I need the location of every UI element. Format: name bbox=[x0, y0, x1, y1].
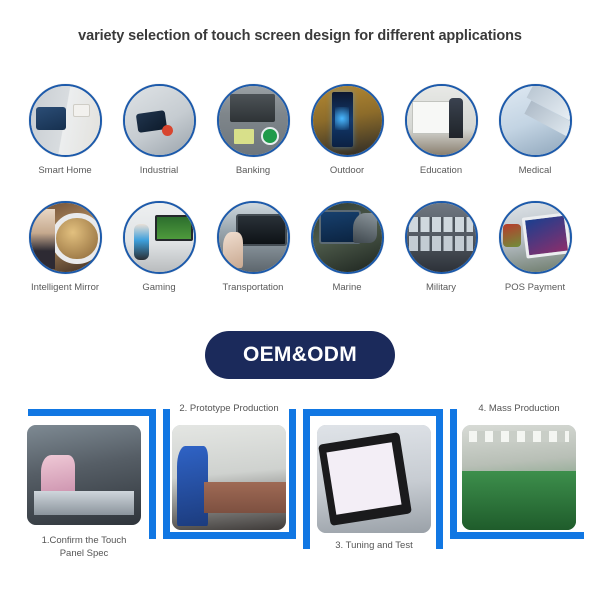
mass-production-photo-icon bbox=[462, 425, 576, 530]
process-step-4-label: 4. Mass Production bbox=[449, 403, 589, 416]
application-label: Outdoor bbox=[330, 166, 364, 176]
application-label: Gaming bbox=[142, 283, 175, 293]
transportation-photo-icon bbox=[219, 203, 288, 272]
application-label: Military bbox=[426, 283, 456, 293]
application-label: Medical bbox=[519, 166, 552, 176]
medical-photo-icon bbox=[501, 86, 570, 155]
application-item-intelligent-mirror[interactable]: Intelligent Mirror bbox=[18, 201, 112, 293]
bracket-2-right-bar bbox=[289, 409, 296, 539]
medical-image[interactable] bbox=[499, 84, 572, 157]
smart-home-image[interactable] bbox=[29, 84, 102, 157]
process-step-1-label: 1.Confirm the Touch Panel Spec bbox=[14, 535, 154, 561]
application-grid-row-1: Smart Home Industrial Banking Outdoor Ed… bbox=[18, 84, 582, 176]
application-label: Intelligent Mirror bbox=[31, 283, 99, 293]
application-item-banking[interactable]: Banking bbox=[206, 84, 300, 176]
oem-odm-button[interactable]: OEM&ODM bbox=[205, 331, 395, 379]
application-item-outdoor[interactable]: Outdoor bbox=[300, 84, 394, 176]
bracket-3-right-bar bbox=[436, 409, 443, 549]
education-photo-icon bbox=[407, 86, 476, 155]
application-label: Marine bbox=[332, 283, 361, 293]
application-item-transportation[interactable]: Transportation bbox=[206, 201, 300, 293]
application-label: Transportation bbox=[223, 283, 284, 293]
application-item-marine[interactable]: Marine bbox=[300, 201, 394, 293]
process-step-3-image[interactable] bbox=[317, 425, 431, 533]
military-image[interactable] bbox=[405, 201, 478, 274]
industrial-image[interactable] bbox=[123, 84, 196, 157]
process-flow-section: 1.Confirm the Touch Panel Spec 2. Protot… bbox=[0, 395, 600, 580]
prototype-production-photo-icon bbox=[172, 425, 286, 530]
bracket-3-top-bar bbox=[303, 409, 443, 416]
military-photo-icon bbox=[407, 203, 476, 272]
application-item-smart-home[interactable]: Smart Home bbox=[18, 84, 112, 176]
tuning-and-test-photo-icon bbox=[317, 425, 431, 533]
application-item-industrial[interactable]: Industrial bbox=[112, 84, 206, 176]
banking-photo-icon bbox=[219, 86, 288, 155]
bracket-3-left-bar bbox=[303, 409, 310, 549]
bracket-1-top-bar bbox=[28, 409, 156, 416]
bracket-1-right-bar bbox=[149, 409, 156, 539]
application-item-education[interactable]: Education bbox=[394, 84, 488, 176]
page-title: variety selection of touch screen design… bbox=[0, 28, 600, 44]
confirm-touch-panel-spec-photo-icon bbox=[27, 425, 141, 525]
transportation-image[interactable] bbox=[217, 201, 290, 274]
process-step-1-image[interactable] bbox=[27, 425, 141, 525]
application-label: Education bbox=[420, 166, 462, 176]
application-item-gaming[interactable]: Gaming bbox=[112, 201, 206, 293]
marine-image[interactable] bbox=[311, 201, 384, 274]
process-step-3-label: 3. Tuning and Test bbox=[304, 540, 444, 553]
atm-button-icon bbox=[261, 127, 279, 145]
application-item-medical[interactable]: Medical bbox=[488, 84, 582, 176]
industrial-photo-icon bbox=[125, 86, 194, 155]
application-label: Smart Home bbox=[38, 166, 91, 176]
pos-payment-image[interactable] bbox=[499, 201, 572, 274]
bracket-4-left-bar bbox=[450, 409, 457, 539]
application-item-military[interactable]: Military bbox=[394, 201, 488, 293]
marine-photo-icon bbox=[313, 203, 382, 272]
application-label: Industrial bbox=[140, 166, 179, 176]
pos-payment-photo-icon bbox=[501, 203, 570, 272]
process-step-2-image[interactable] bbox=[172, 425, 286, 530]
application-label: Banking bbox=[236, 166, 270, 176]
bracket-2-bottom-bar bbox=[163, 532, 296, 539]
application-label: POS Payment bbox=[505, 283, 565, 293]
intelligent-mirror-image[interactable] bbox=[29, 201, 102, 274]
education-image[interactable] bbox=[405, 84, 478, 157]
gaming-photo-icon bbox=[125, 203, 194, 272]
outdoor-photo-icon bbox=[313, 86, 382, 155]
bracket-4-bottom-bar bbox=[450, 532, 584, 539]
smart-home-photo-icon bbox=[31, 86, 100, 155]
intelligent-mirror-photo-icon bbox=[31, 203, 100, 272]
process-step-2-label: 2. Prototype Production bbox=[159, 403, 299, 416]
process-step-4-image[interactable] bbox=[462, 425, 576, 530]
banking-image[interactable] bbox=[217, 84, 290, 157]
bracket-2-left-bar bbox=[163, 409, 170, 539]
application-item-pos-payment[interactable]: POS Payment bbox=[488, 201, 582, 293]
gaming-image[interactable] bbox=[123, 201, 196, 274]
application-grid-row-2: Intelligent Mirror Gaming Transportation… bbox=[18, 201, 582, 293]
outdoor-image[interactable] bbox=[311, 84, 384, 157]
